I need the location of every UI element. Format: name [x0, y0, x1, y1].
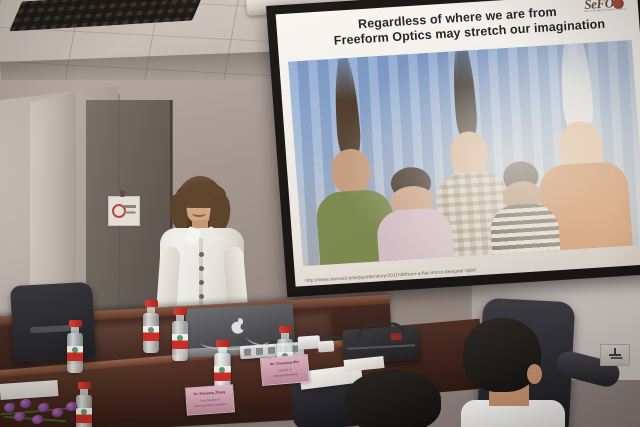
no-smoking-sign-icon — [108, 196, 140, 226]
orchid-petal — [32, 415, 43, 424]
slide-person-2 — [372, 161, 455, 262]
shirt-button — [199, 294, 204, 299]
office-chair-left — [10, 282, 96, 362]
projection-screen-surface: SeFO ™ Sino European Freeform Optics Reg… — [276, 0, 640, 287]
orchid-petal — [14, 412, 25, 421]
bottle-label — [214, 366, 230, 381]
wall-plate — [600, 344, 630, 366]
bottle-cap — [145, 300, 158, 307]
bottle-label — [67, 346, 83, 361]
apple-bite — [240, 323, 247, 330]
torso-2 — [375, 207, 454, 262]
orchid-petal — [66, 402, 77, 411]
audience-1-ear — [527, 364, 542, 384]
bottle-cap — [174, 308, 187, 315]
bottle-body — [67, 333, 83, 373]
name-tent-card: Mr. Chaoyang Wei Director of Optical Eng… — [260, 354, 310, 386]
orchid-petal — [20, 399, 31, 408]
bottle-label — [172, 334, 188, 349]
bottle-cap — [69, 320, 82, 327]
presenter-smile — [192, 210, 206, 217]
bottle-body — [143, 313, 159, 353]
bottle-label — [143, 326, 159, 341]
sign-pin — [120, 190, 125, 197]
audience-2-head — [345, 370, 441, 427]
name-tent-card: Dr. Xiaoyang Zhang Vice Director of Nano… — [185, 384, 235, 415]
water-bottle — [143, 300, 159, 353]
name-card-name: Dr. Xiaoyang Zhang — [186, 389, 232, 396]
power-adapter-2 — [318, 340, 335, 352]
audience-member-2 — [345, 370, 445, 427]
orchid-petal — [52, 408, 63, 417]
orchid-flowers — [0, 390, 104, 427]
shirt-button — [199, 280, 204, 285]
slide-person-4 — [485, 154, 561, 254]
bottle-body — [172, 321, 188, 361]
earth-ground-icon — [609, 348, 621, 361]
slide-photo — [288, 40, 640, 266]
water-bottle — [67, 320, 83, 373]
torso-4 — [488, 202, 560, 254]
bag-tag — [390, 333, 401, 341]
audience-member-1 — [455, 318, 565, 427]
shirt-button — [199, 252, 204, 257]
head-1 — [330, 148, 373, 195]
bottle-cap — [216, 340, 229, 347]
bottle-cap — [78, 382, 91, 389]
head-3 — [449, 130, 490, 177]
orchid-petal — [4, 403, 15, 412]
shirt-button — [199, 266, 204, 271]
projection-screen-frame: SeFO ™ Sino European Freeform Optics Reg… — [266, 0, 640, 297]
water-bottle — [172, 308, 188, 361]
conference-room-photo: SeFO ™ Sino European Freeform Optics Reg… — [0, 0, 640, 427]
bottle-cap — [279, 326, 292, 333]
bag-zipper — [347, 344, 415, 350]
